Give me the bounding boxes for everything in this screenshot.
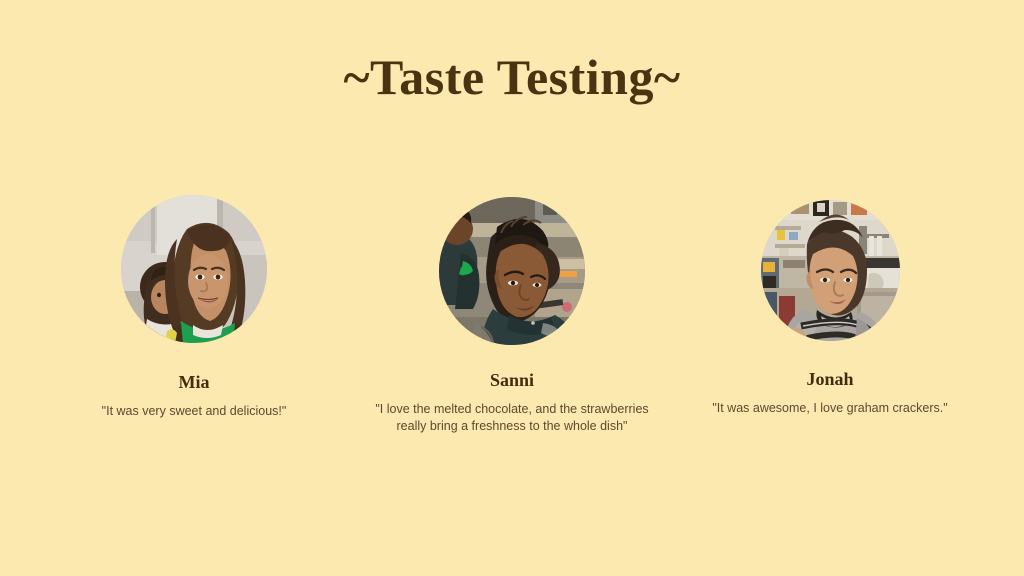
avatar xyxy=(439,197,585,345)
person-quote: "It was awesome, I love graham crackers.… xyxy=(680,400,980,417)
testimonial-card: Sanni "I love the melted chocolate, and … xyxy=(362,195,662,435)
testimonial-list: Mia "It was very sweet and delicious!" xyxy=(0,195,1024,485)
person-name: Mia xyxy=(44,373,344,393)
testimonial-card: Jonah "It was awesome, I love graham cra… xyxy=(680,195,980,417)
portrait-jonah-icon xyxy=(761,200,900,341)
slide-root: ~Taste Testing~ xyxy=(0,0,1024,576)
testimonial-card: Mia "It was very sweet and delicious!" xyxy=(44,195,344,420)
avatar xyxy=(121,195,267,343)
person-quote: "It was very sweet and delicious!" xyxy=(44,403,344,420)
page-title: ~Taste Testing~ xyxy=(0,48,1024,106)
portrait-mia-icon xyxy=(121,195,267,343)
portrait-sanni-icon xyxy=(439,197,585,345)
person-quote: "I love the melted chocolate, and the st… xyxy=(362,401,662,435)
avatar xyxy=(761,200,900,341)
person-name: Jonah xyxy=(680,370,980,390)
person-name: Sanni xyxy=(362,371,662,391)
